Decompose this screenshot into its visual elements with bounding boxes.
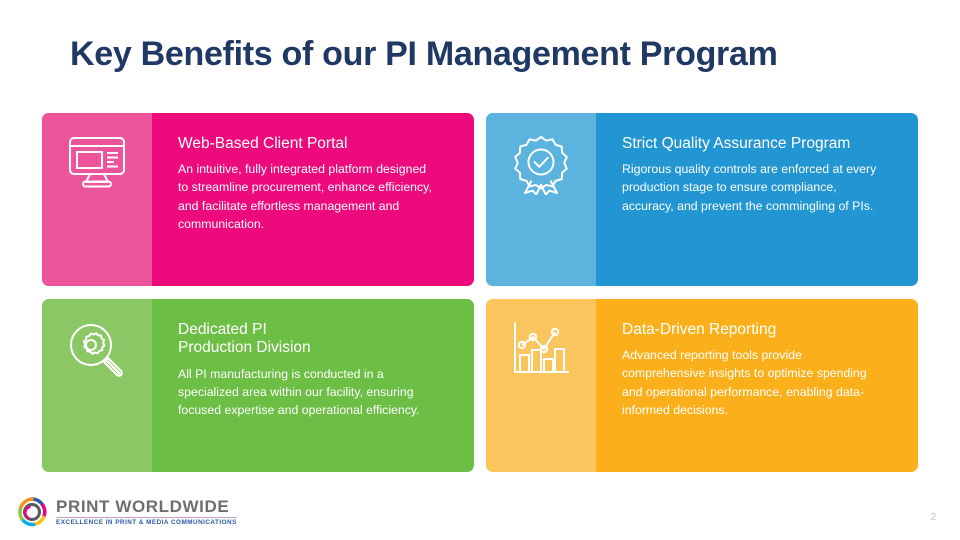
print-worldwide-logo-icon	[16, 496, 48, 528]
icon-panel	[486, 113, 596, 286]
card-description: Advanced reporting tools provide compreh…	[622, 346, 877, 419]
card-body: Strict Quality Assurance Program Rigorou…	[596, 113, 918, 286]
icon-panel	[42, 113, 152, 286]
card-title: Strict Quality Assurance Program	[622, 135, 894, 153]
page-number: 2	[930, 512, 936, 523]
icon-panel	[42, 299, 152, 472]
logo-tagline: EXCELLENCE IN PRINT & MEDIA COMMUNICATIO…	[56, 520, 237, 526]
monitor-icon	[66, 135, 128, 189]
page-title: Key Benefits of our PI Management Progra…	[70, 35, 930, 74]
card-title: Data-Driven Reporting	[622, 321, 894, 339]
card-body: Web-Based Client Portal An intuitive, fu…	[152, 113, 474, 286]
card-title: Web-Based Client Portal	[178, 135, 450, 153]
card-body: Data-Driven Reporting Advanced reporting…	[596, 299, 918, 472]
logo-name: PRINT WORLDWIDE	[56, 498, 237, 515]
benefit-card-pi-production[interactable]: Dedicated PI Production Division All PI …	[42, 299, 474, 472]
logo-divider	[56, 517, 237, 518]
card-body: Dedicated PI Production Division All PI …	[152, 299, 474, 472]
card-description: Rigorous quality controls are enforced a…	[622, 160, 877, 215]
benefit-card-data-reporting[interactable]: Data-Driven Reporting Advanced reporting…	[486, 299, 918, 472]
logo-wordmark: PRINT WORLDWIDE EXCELLENCE IN PRINT & ME…	[56, 498, 237, 526]
icon-panel	[486, 299, 596, 472]
footer-logo: PRINT WORLDWIDE EXCELLENCE IN PRINT & ME…	[16, 496, 237, 528]
benefit-card-web-portal[interactable]: Web-Based Client Portal An intuitive, fu…	[42, 113, 474, 286]
bar-chart-line-icon	[510, 321, 572, 377]
benefit-card-grid: Web-Based Client Portal An intuitive, fu…	[42, 113, 918, 472]
benefit-card-quality-assurance[interactable]: Strict Quality Assurance Program Rigorou…	[486, 113, 918, 286]
card-title: Dedicated PI Production Division	[178, 321, 450, 358]
slide-canvas: Key Benefits of our PI Management Progra…	[0, 0, 960, 540]
card-description: An intuitive, fully integrated platform …	[178, 160, 433, 233]
quality-badge-icon	[511, 135, 571, 195]
card-description: All PI manufacturing is conducted in a s…	[178, 365, 433, 420]
magnifier-gear-icon	[67, 321, 127, 381]
